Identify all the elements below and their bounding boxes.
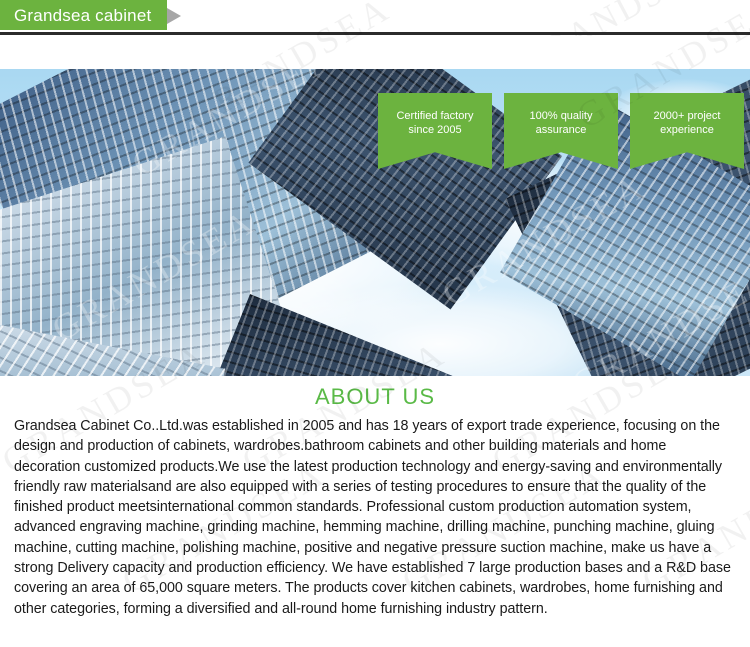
banner-section: GRANDSEA GRANDSEA GRANDSEA GRANDSEA Cert… xyxy=(0,36,750,376)
brand-tab[interactable]: Grandsea cabinet xyxy=(0,0,167,30)
about-section: GRANDSEA GRANDSEA GRANDSEA GRANDSEA GRAN… xyxy=(0,376,750,619)
brand-tab-label: Grandsea cabinet xyxy=(14,7,151,24)
triangle-right-icon xyxy=(167,8,181,24)
about-body-text: Grandsea Cabinet Co..Ltd.was established… xyxy=(8,416,742,619)
badge-label: Certified factory since 2005 xyxy=(385,109,485,137)
badge-label: 2000+ project experience xyxy=(637,109,737,137)
badge-label: 100% quality assurance xyxy=(511,109,611,137)
page-title: ABOUT US xyxy=(8,384,742,410)
header-divider xyxy=(0,32,750,35)
page-header: GRANDSEA Grandsea cabinet xyxy=(0,0,750,36)
